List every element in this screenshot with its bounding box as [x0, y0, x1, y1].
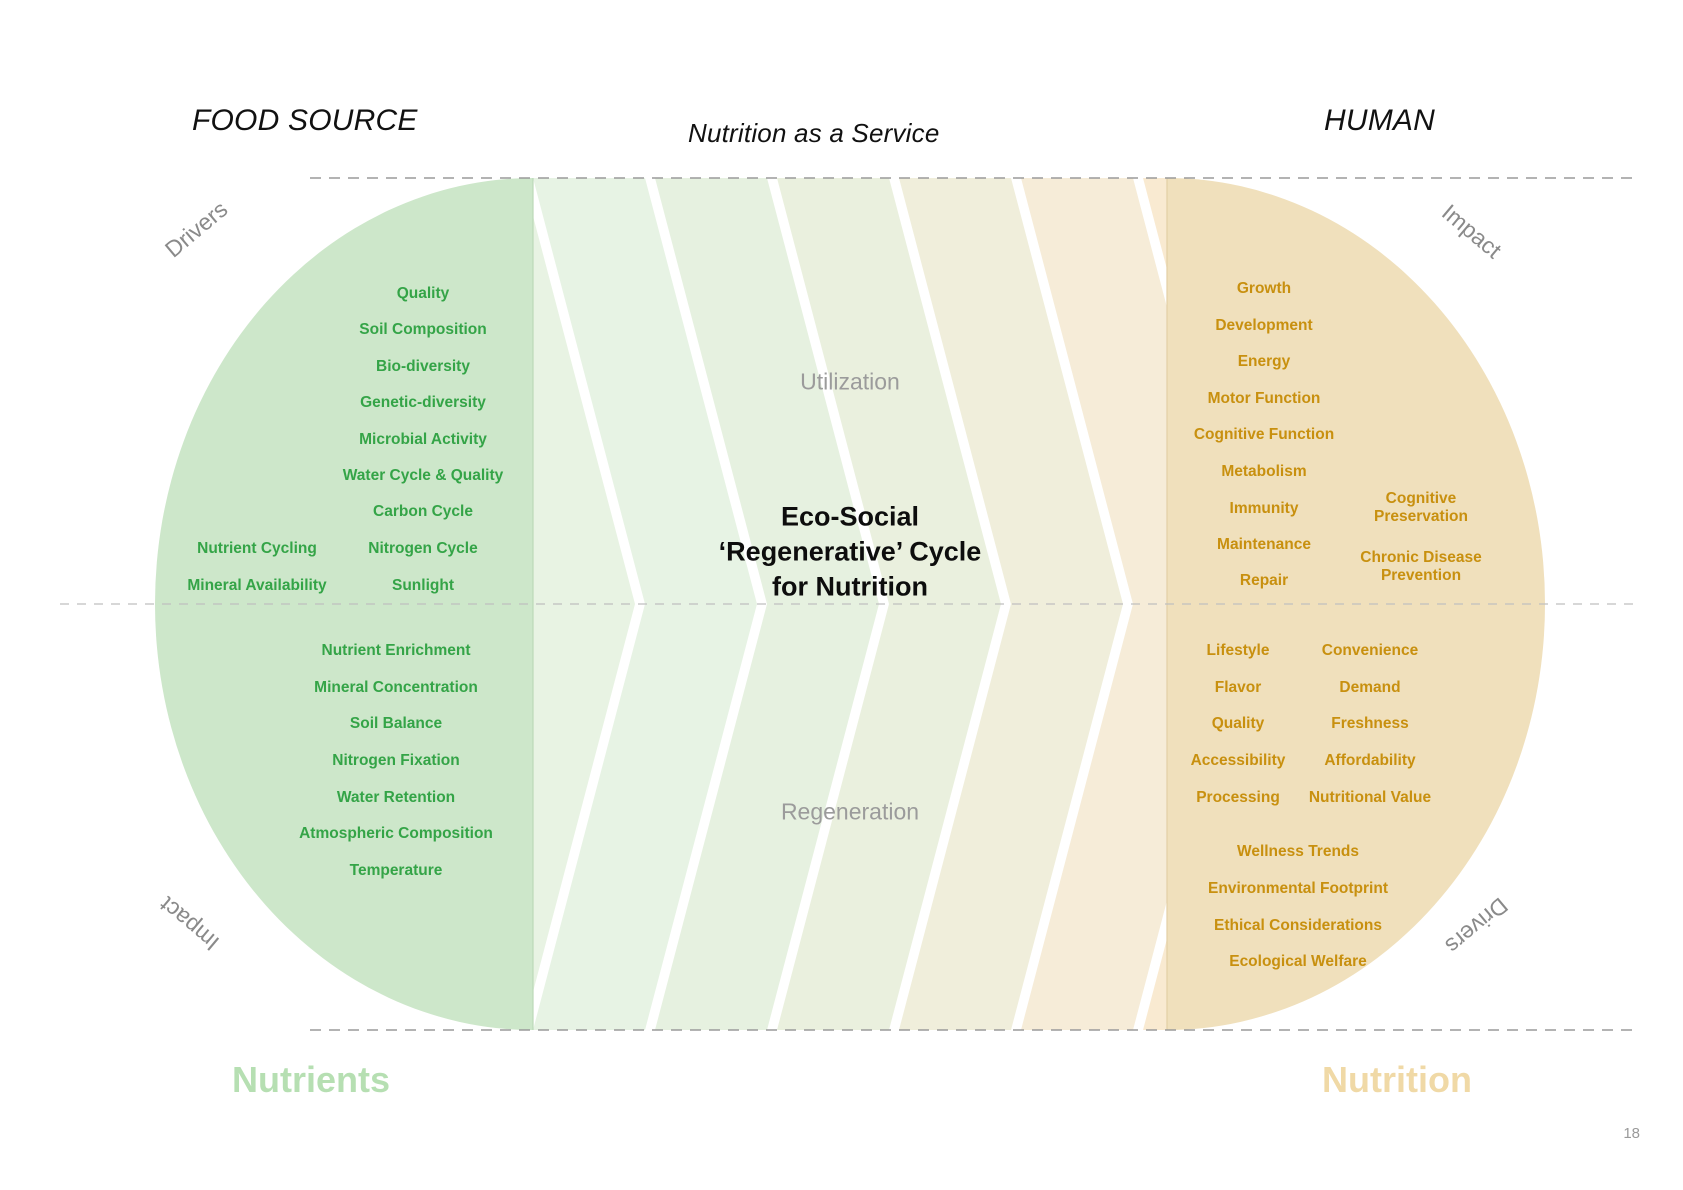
slide-canvas: FOOD SOURCE Nutrition as a Service HUMAN…: [0, 0, 1683, 1190]
footer-word-nutrients: Nutrients: [232, 1059, 390, 1101]
diagram-graphics: [0, 0, 1683, 1190]
page-number: 18: [1623, 1125, 1640, 1142]
footer-word-nutrition: Nutrition: [1322, 1059, 1472, 1101]
